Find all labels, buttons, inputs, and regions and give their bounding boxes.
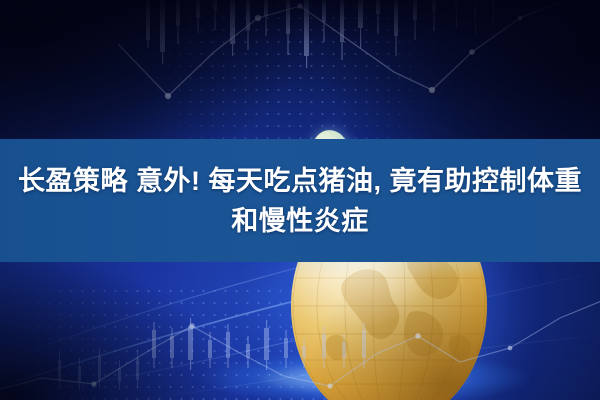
headline-line-1: 长盈策略 意外! 每天吃点猪油, 竟有助控制体重 — [18, 161, 582, 201]
headline-line-2: 和慢性炎症 — [231, 201, 369, 241]
banner-image: $ $ — [0, 0, 600, 400]
headline-text: 长盈策略 意外! 每天吃点猪油, 竟有助控制体重 和慢性炎症 — [0, 139, 600, 262]
